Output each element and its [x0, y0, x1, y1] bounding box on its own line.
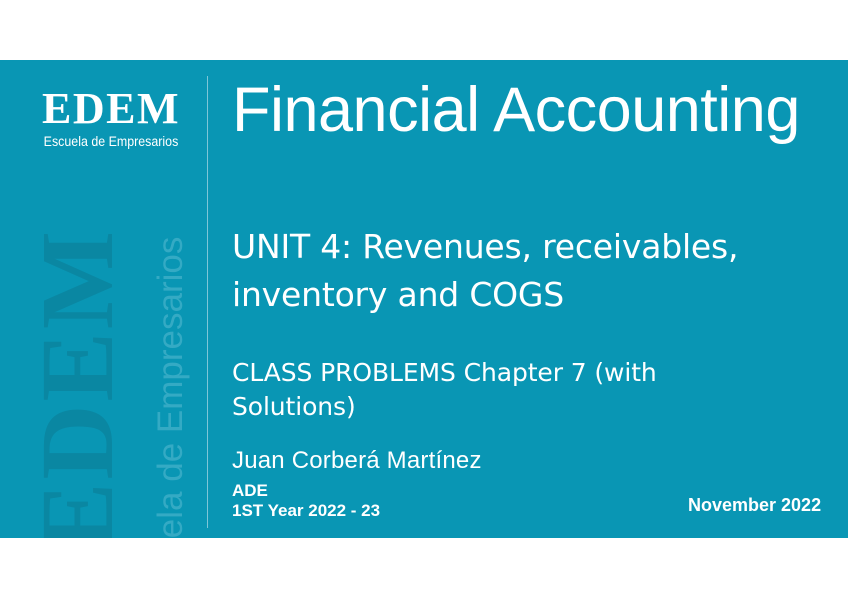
watermark-edem-logo: EDEM	[26, 210, 130, 538]
slide-content: Financial Accounting UNIT 4: Revenues, r…	[232, 60, 844, 538]
edem-logo-tagline: Escuela de Empresarios	[42, 134, 180, 150]
edem-logo: EDEM Escuela de Empresarios	[36, 85, 186, 150]
title-slide: EDEM Escuela de Empresarios EDEM Escuela…	[0, 60, 848, 538]
slide-subtitle-line-2: inventory and COGS	[232, 275, 564, 314]
slide-title: Financial Accounting	[232, 74, 800, 146]
slide-chapter-line-1: CLASS PROBLEMS Chapter 7 (with	[232, 358, 657, 387]
academic-year-label: 1ST Year 2022 - 23	[232, 501, 380, 520]
slide-chapter: CLASS PROBLEMS Chapter 7 (with Solutions…	[232, 356, 752, 424]
watermark-edem-tagline: Escuela de Empresarios	[152, 246, 190, 538]
program-label: ADE	[232, 481, 268, 500]
edem-logo-wordmark: EDEM	[36, 85, 186, 133]
author-name: Juan Corberá Martínez	[232, 446, 482, 476]
vertical-divider	[207, 76, 208, 528]
slide-chapter-line-2: Solutions)	[232, 392, 356, 421]
slide-date: November 2022	[688, 494, 821, 516]
brand-column: EDEM Escuela de Empresarios EDEM Escuela…	[0, 60, 208, 538]
slide-subtitle-line-1: UNIT 4: Revenues, receivables,	[232, 227, 738, 266]
author-meta: ADE 1ST Year 2022 - 23	[232, 481, 380, 521]
slide-subtitle: UNIT 4: Revenues, receivables, inventory…	[232, 223, 840, 319]
